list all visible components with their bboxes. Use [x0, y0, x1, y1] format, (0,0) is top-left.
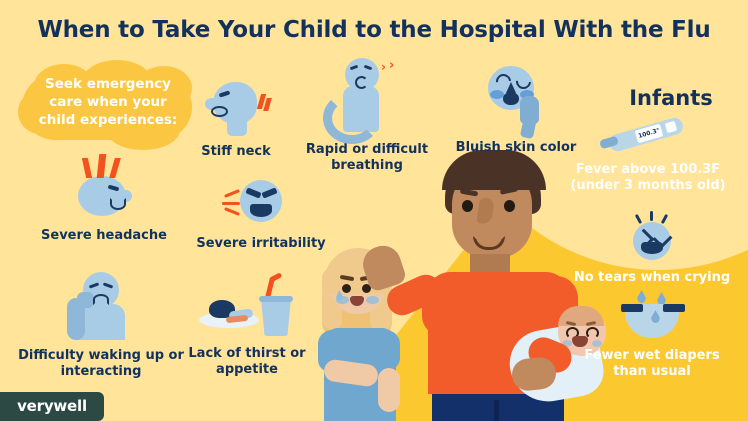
sign-difficulty-waking: Difficulty waking up or interacting	[18, 272, 184, 379]
sign-infant-fever: 100.3° Fever above 100.3F (under 3 month…	[554, 114, 742, 193]
sign-label: Lack of thirst or appetite	[180, 346, 314, 377]
person-labored-breathing-icon: › ›	[317, 58, 417, 136]
face-bluish-skin-icon	[470, 62, 562, 134]
sign-severe-headache: Severe headache	[36, 156, 172, 244]
crying-baby-face-icon	[611, 216, 693, 264]
diaper-icon	[607, 290, 697, 342]
sign-label: No tears when crying	[566, 270, 738, 286]
sign-fewer-wet-diapers: Fewer wet diapers than usual	[566, 290, 738, 379]
logo-text: verywell	[0, 392, 104, 421]
sign-lack-of-thirst: Lack of thirst or appetite	[180, 284, 314, 377]
head-stiff-neck-icon	[191, 68, 281, 138]
sign-label: Fever above 100.3F (under 3 months old)	[554, 162, 742, 193]
sign-label: Rapid or difficult breathing	[294, 142, 440, 173]
sign-label: Severe headache	[36, 228, 172, 244]
sign-rapid-breathing: › › Rapid or difficult breathing	[294, 58, 440, 173]
thermometer-icon: 100.3°	[600, 114, 696, 156]
sign-severe-irritability: Severe irritability	[196, 176, 326, 252]
head-lightning-bolts-icon	[54, 156, 154, 222]
breath-mark-icon: ›	[381, 60, 386, 74]
sign-no-tears: No tears when crying	[566, 216, 738, 286]
sign-stiff-neck: Stiff neck	[176, 68, 296, 160]
father-holding-baby-illustration	[300, 150, 580, 421]
sign-label: Difficulty waking up or interacting	[18, 348, 184, 379]
infants-heading: Infants	[606, 86, 736, 110]
emergency-callout-text: Seek emergency care when your child expe…	[32, 76, 184, 129]
infants-heading-text: Infants	[606, 86, 736, 110]
sign-label: Fewer wet diapers than usual	[566, 348, 738, 379]
tired-person-icon	[57, 272, 145, 342]
emergency-callout-blob: Seek emergency care when your child expe…	[18, 64, 194, 148]
breath-mark-icon-2: ›	[389, 58, 394, 73]
page-title: When to Take Your Child to the Hospital …	[0, 17, 748, 43]
infographic-poster: When to Take Your Child to the Hospital …	[0, 0, 748, 421]
angry-face-icon	[216, 176, 306, 230]
sign-label: Stiff neck	[176, 144, 296, 160]
sign-label: Severe irritability	[196, 236, 326, 252]
verywell-logo[interactable]: verywell	[0, 392, 104, 421]
plate-and-drink-icon	[199, 284, 295, 340]
